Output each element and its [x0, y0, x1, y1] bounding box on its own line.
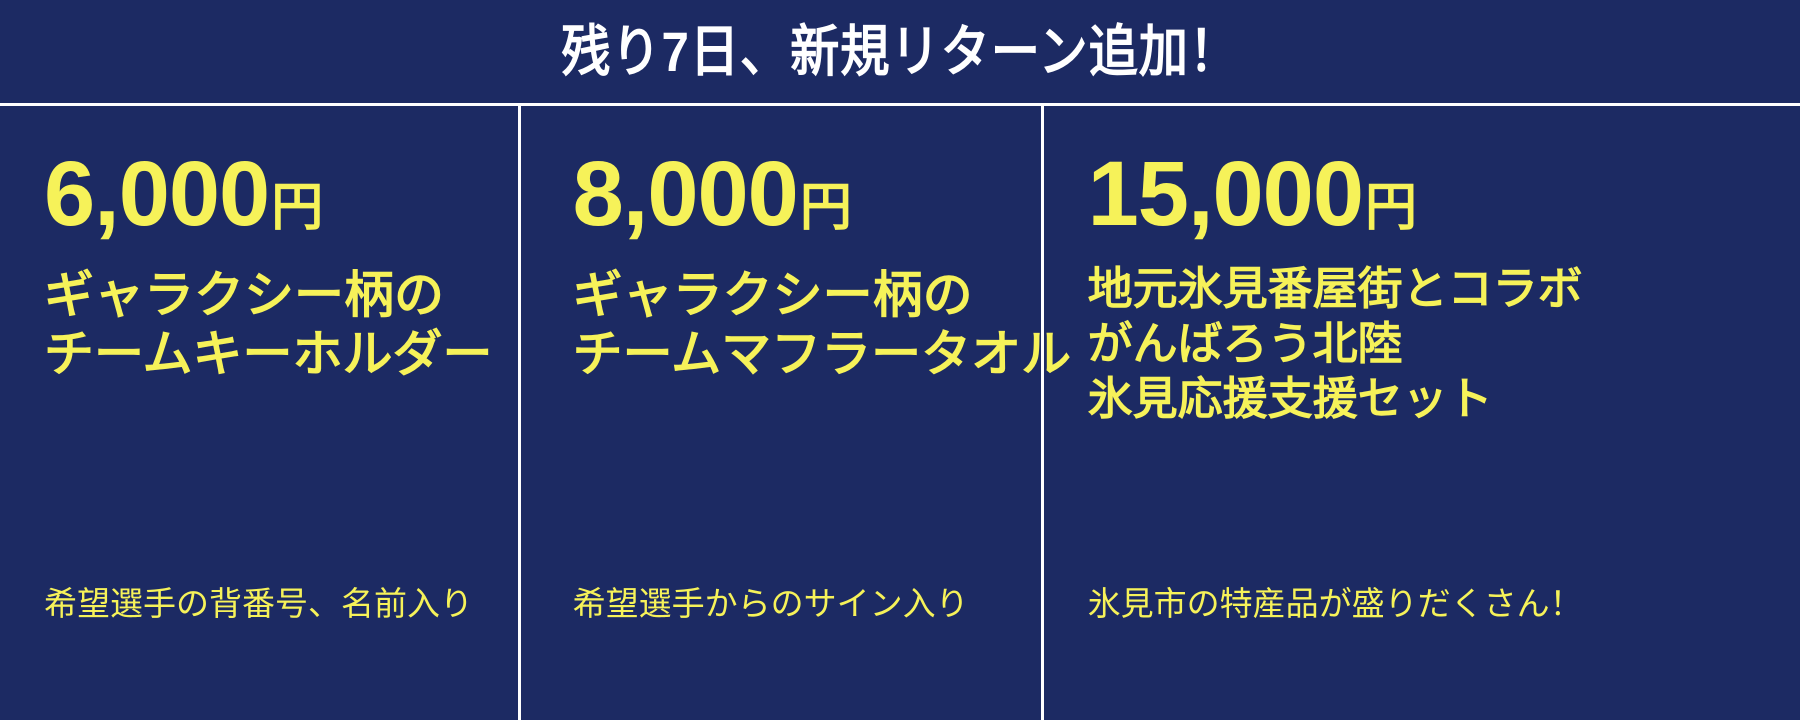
return-tiers-banner: 残り7日、新規リターン追加！ 6,000 円 ギャラクシー柄の チームキーホルダ… [0, 0, 1800, 720]
tier-card-2[interactable]: 8,000 円 ギャラクシー柄の チームマフラータオル 希望選手からのサイン入り [521, 106, 1041, 720]
tier-3-product-line-1: 地元氷見番屋街とコラボ [1088, 262, 1800, 317]
tier-2-price-unit: 円 [800, 182, 852, 234]
tier-3-price-unit: 円 [1365, 182, 1417, 234]
header-title: 残り7日、新規リターン追加！ [561, 24, 1239, 80]
tier-3-price: 15,000 円 [1088, 148, 1800, 240]
tier-1-note: 希望選手の背番号、名前入り [44, 584, 473, 624]
tier-3-note: 氷見市の特産品が盛りだくさん！ [1088, 584, 1583, 624]
tier-3-product-line-3: 氷見応援支援セット [1088, 372, 1800, 427]
tier-1-price-amount: 6,000 [44, 148, 269, 240]
banner-header: 残り7日、新規リターン追加！ [0, 0, 1800, 103]
tier-1-product-line-2: チームキーホルダー [44, 325, 518, 384]
tier-2-product-name: ギャラクシー柄の チームマフラータオル [573, 266, 1041, 384]
tier-2-price: 8,000 円 [573, 148, 1041, 240]
tier-1-price: 6,000 円 [44, 148, 518, 240]
tier-1-product-line-1: ギャラクシー柄の [44, 266, 518, 325]
tier-3-product-name: 地元氷見番屋街とコラボ がんばろう北陸 氷見応援支援セット [1088, 262, 1800, 427]
tier-2-product-line-2: チームマフラータオル [573, 325, 1041, 384]
tier-card-3[interactable]: 15,000 円 地元氷見番屋街とコラボ がんばろう北陸 氷見応援支援セット 氷… [1044, 106, 1800, 720]
tier-2-price-amount: 8,000 [573, 148, 798, 240]
tier-columns: 6,000 円 ギャラクシー柄の チームキーホルダー 希望選手の背番号、名前入り… [0, 106, 1800, 720]
tier-2-product-line-1: ギャラクシー柄の [573, 266, 1041, 325]
tier-card-1[interactable]: 6,000 円 ギャラクシー柄の チームキーホルダー 希望選手の背番号、名前入り [0, 106, 518, 720]
tier-1-product-name: ギャラクシー柄の チームキーホルダー [44, 266, 518, 384]
tier-1-price-unit: 円 [271, 182, 323, 234]
tier-2-note: 希望選手からのサイン入り [573, 584, 969, 624]
tier-3-price-amount: 15,000 [1088, 148, 1363, 240]
tier-3-product-line-2: がんばろう北陸 [1088, 317, 1800, 372]
